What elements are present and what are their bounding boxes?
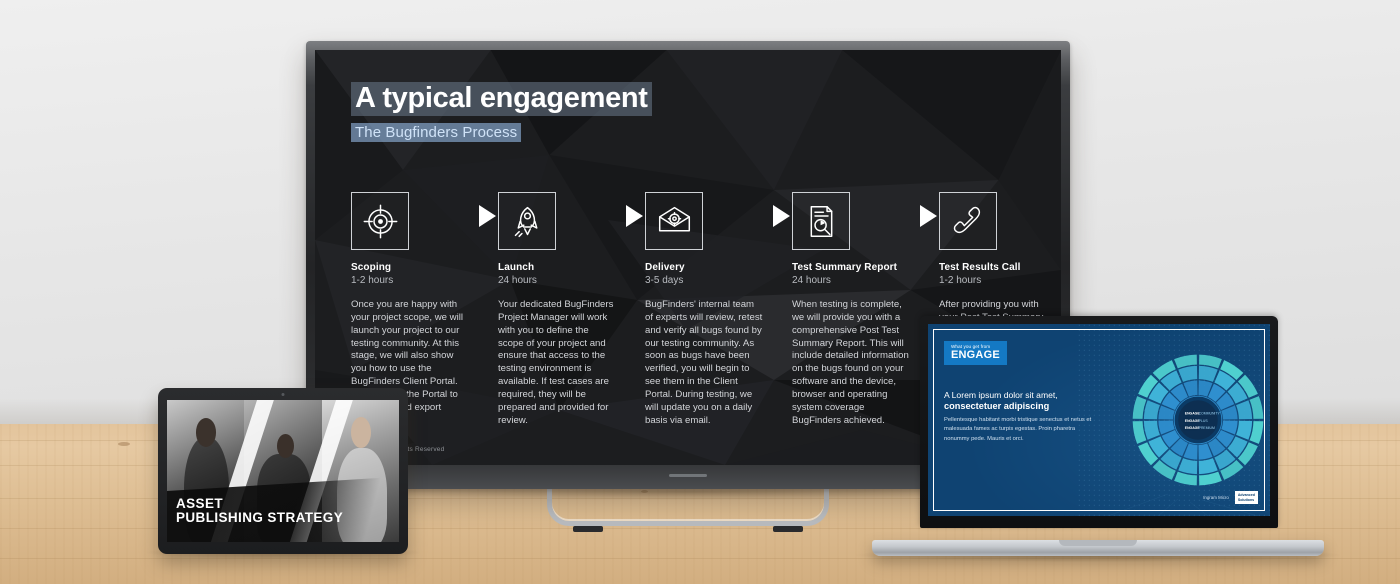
phone-icon [939,192,997,250]
process-step-delivery: Delivery 3-5 days BugFinders' internal t… [645,192,770,427]
tablet-slide-title: ASSET PUBLISHING STRATEGY [176,497,343,526]
process-step-launch: Launch 24 hours Your dedicated BugFinder… [498,192,623,427]
laptop-device: What you get from ENGAGE A Lorem ipsum d… [872,316,1324,556]
document-magnifier-icon [792,192,850,250]
advanced-solutions-logo: Advanced Solutions [1235,491,1258,504]
tablet-title-line-1: ASSET [176,497,343,512]
arrow-icon [623,205,645,227]
step-body: Your dedicated BugFinders Project Manage… [498,299,616,427]
engage-eyebrow-badge: What you get from ENGAGE [944,341,1007,365]
step-duration: 1-2 hours [939,275,1061,286]
scene: A typical engagement The Bugfinders Proc… [0,0,1400,584]
slide-title: A typical engagement [351,82,652,116]
envelope-gear-icon [645,192,703,250]
laptop-base [872,540,1324,556]
arrow-icon [476,205,498,227]
svg-text:PREMIUM: PREMIUM [1199,426,1215,430]
step-name: Delivery [645,262,770,273]
laptop-slide-heading: A Lorem ipsum dolor sit amet, consectetu… [944,390,1096,413]
arrow-icon [917,205,939,227]
process-step-scoping: Scoping 1-2 hours Once you are happy wit… [351,192,476,415]
tablet-device: ASSET PUBLISHING STRATEGY [158,388,408,554]
tablet-body: ASSET PUBLISHING STRATEGY [158,388,408,554]
tv-stand [547,486,829,530]
footer-brand-text: Ingram Micro [1203,495,1229,500]
laptop-slide-body: Pellentesque habitant morbi tristique se… [944,416,1094,444]
laptop-trackpad-notch [1059,540,1137,546]
laptop-lid: What you get from ENGAGE A Lorem ipsum d… [920,316,1278,528]
step-name: Scoping [351,262,476,273]
svg-text:PLUS: PLUS [1199,419,1209,423]
heading-line-1: A Lorem ipsum dolor sit amet, [944,390,1096,401]
step-duration: 1-2 hours [351,275,476,286]
rocket-icon [498,192,556,250]
step-name: Launch [498,262,623,273]
laptop-slide: What you get from ENGAGE A Lorem ipsum d… [928,324,1270,516]
slide-subtitle: The Bugfinders Process [351,123,521,142]
step-body: BugFinders' internal team of experts wil… [645,299,763,427]
tablet-title-line-2: PUBLISHING STRATEGY [176,511,343,526]
step-duration: 24 hours [498,275,623,286]
radial-wheel-diagram: ENGAGECOMMUNITYENGAGEPLUSENGAGEPREMIUM [1132,354,1264,486]
laptop-slide-footer: Ingram Micro Advanced Solutions [1203,491,1258,504]
step-duration: 24 hours [792,275,917,286]
tablet-screen: ASSET PUBLISHING STRATEGY [167,400,399,542]
arrow-icon [770,205,792,227]
step-name: Test Results Call [939,262,1061,273]
eyebrow-brand-text: ENGAGE [951,350,1000,362]
laptop-screen: What you get from ENGAGE A Lorem ipsum d… [928,324,1270,516]
logo-line-2: Solutions [1238,498,1254,502]
step-duration: 3-5 days [645,275,770,286]
heading-line-2: consectetuer adipiscing [944,401,1096,413]
tablet-camera-icon [282,393,285,396]
target-icon [351,192,409,250]
svg-text:COMMUNITY: COMMUNITY [1199,412,1221,416]
step-name: Test Summary Report [792,262,917,273]
